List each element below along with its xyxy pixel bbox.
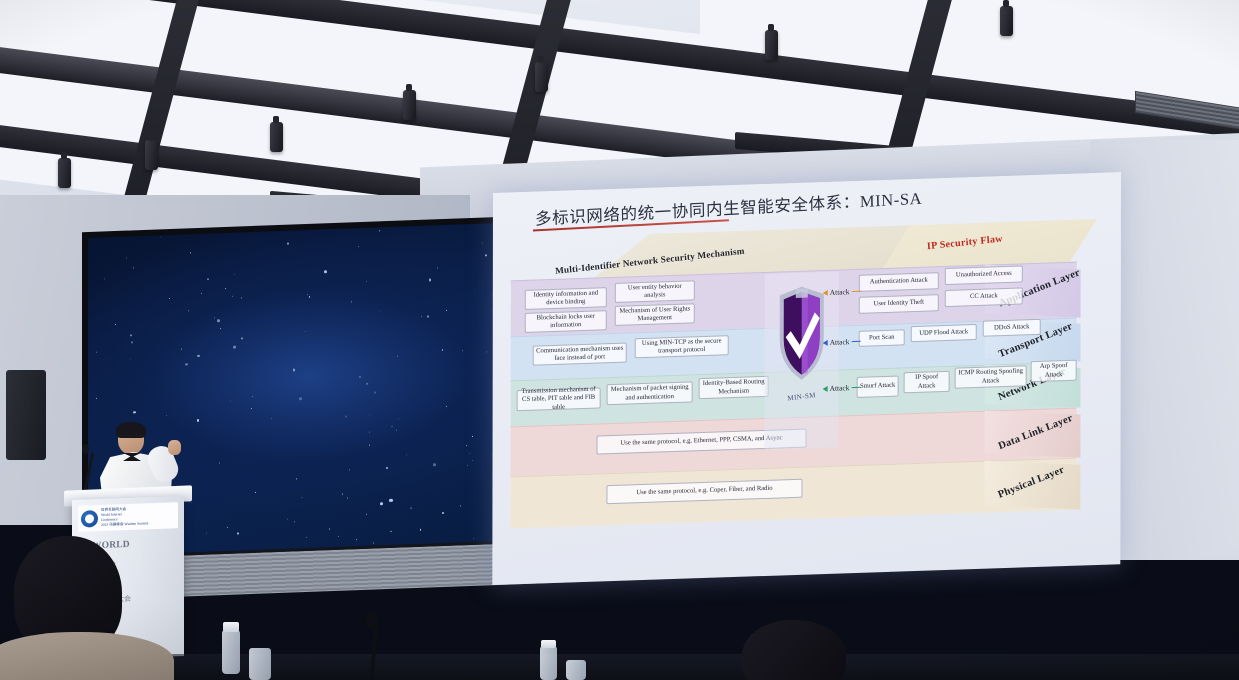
- water-bottle-cap-3: [541, 640, 556, 648]
- presenter-glasses: [118, 435, 144, 440]
- attack-label: Attack: [830, 383, 850, 393]
- cell-tr-left-1: Communication mechanism uses face instea…: [533, 343, 627, 366]
- slide-title: 多标识网络的统一协同内生智能安全体系：MIN-SA: [535, 185, 923, 230]
- osi-stack-diagram: Multi-Identifier Network Security Mechan…: [510, 219, 1103, 569]
- foreground-table: [0, 654, 1239, 680]
- cell-nw-right-2: IP Spoof Attack: [904, 371, 950, 394]
- podium-microphone-head: [82, 444, 89, 454]
- logo-line-sub: 2023 乌镇峰会 Wuzhen Summit: [101, 521, 148, 528]
- cell-app-left-4: Mechanism of User Rights Management: [615, 303, 695, 326]
- ceiling-spotlight: [270, 122, 283, 152]
- ceiling-spotlight: [58, 158, 71, 188]
- cell-app-right-4: CC Attack: [945, 287, 1023, 307]
- cell-tr-right-1: Port Scan: [859, 329, 905, 347]
- water-bottle-2: [249, 648, 271, 680]
- ceiling-spotlight: [535, 62, 548, 92]
- cell-app-right-3: User Identity Theft: [859, 294, 939, 314]
- table-microphone-head: [366, 612, 377, 628]
- cell-app-right-1: Authentication Attack: [859, 272, 939, 292]
- cell-nw-right-4: Arp Spoof Attack: [1031, 360, 1077, 383]
- attack-arrow-application: Attack: [823, 287, 861, 297]
- cell-nw-left-3: Identity-Based Routing Mechanism: [699, 376, 769, 399]
- conference-logo-mark: [81, 510, 98, 528]
- attack-arrow-network: Attack: [823, 383, 861, 393]
- attack-label: Attack: [830, 337, 850, 347]
- security-shield-icon: [777, 284, 827, 384]
- water-bottle-1: [222, 630, 240, 674]
- cell-nw-right-1: Smurf Attack: [857, 376, 899, 398]
- ceiling-spotlight: [1000, 6, 1013, 36]
- conference-logo: 世界互联网大会 World Internet Conference 2023 乌…: [78, 502, 178, 531]
- attack-arrow-transport: Attack: [823, 337, 861, 347]
- audience-head-center: [742, 620, 846, 680]
- water-bottle-3: [540, 646, 557, 680]
- attack-label: Attack: [830, 287, 850, 297]
- ceiling-spotlight: [765, 30, 778, 60]
- cell-nw-left-2: Mechanism of packet signing and authenti…: [607, 381, 693, 405]
- cell-app-right-2: Unauthorized Access: [945, 265, 1023, 285]
- shield-column: MIN-SM: [765, 272, 839, 450]
- cell-nw-right-3: ICMP Routing Spoofing Attack: [955, 365, 1027, 388]
- ceiling-spotlight: [403, 90, 416, 120]
- water-bottle-4: [566, 660, 586, 680]
- cell-nw-left-1: Transmission mechanism of CS table, PIT …: [517, 387, 601, 411]
- projected-slide: 多标识网络的统一协同内生智能安全体系：MIN-SA Multi-Identifi…: [492, 172, 1121, 585]
- cell-app-left-1: Identity information and device binding: [525, 287, 607, 310]
- conference-photo-scene: 多标识网络的统一协同内生智能安全体系：MIN-SA Multi-Identifi…: [0, 0, 1239, 680]
- conference-logo-text: 世界互联网大会 World Internet Conference 2023 乌…: [101, 507, 148, 528]
- cell-app-left-2: User entity behavior analysis: [615, 280, 695, 303]
- cell-tr-right-2: UDP Flood Attack: [911, 324, 977, 342]
- wall-speaker: [6, 370, 46, 460]
- cell-app-left-3: Blockchain locks user information: [525, 310, 607, 333]
- presenter-hand: [168, 440, 181, 455]
- ceiling-spotlight: [145, 140, 158, 170]
- cell-tr-right-3: DDoS Attack: [983, 319, 1041, 337]
- cell-tr-left-2: Using MIN-TCP as the secure transport pr…: [635, 335, 729, 358]
- water-bottle-cap-1: [223, 622, 239, 632]
